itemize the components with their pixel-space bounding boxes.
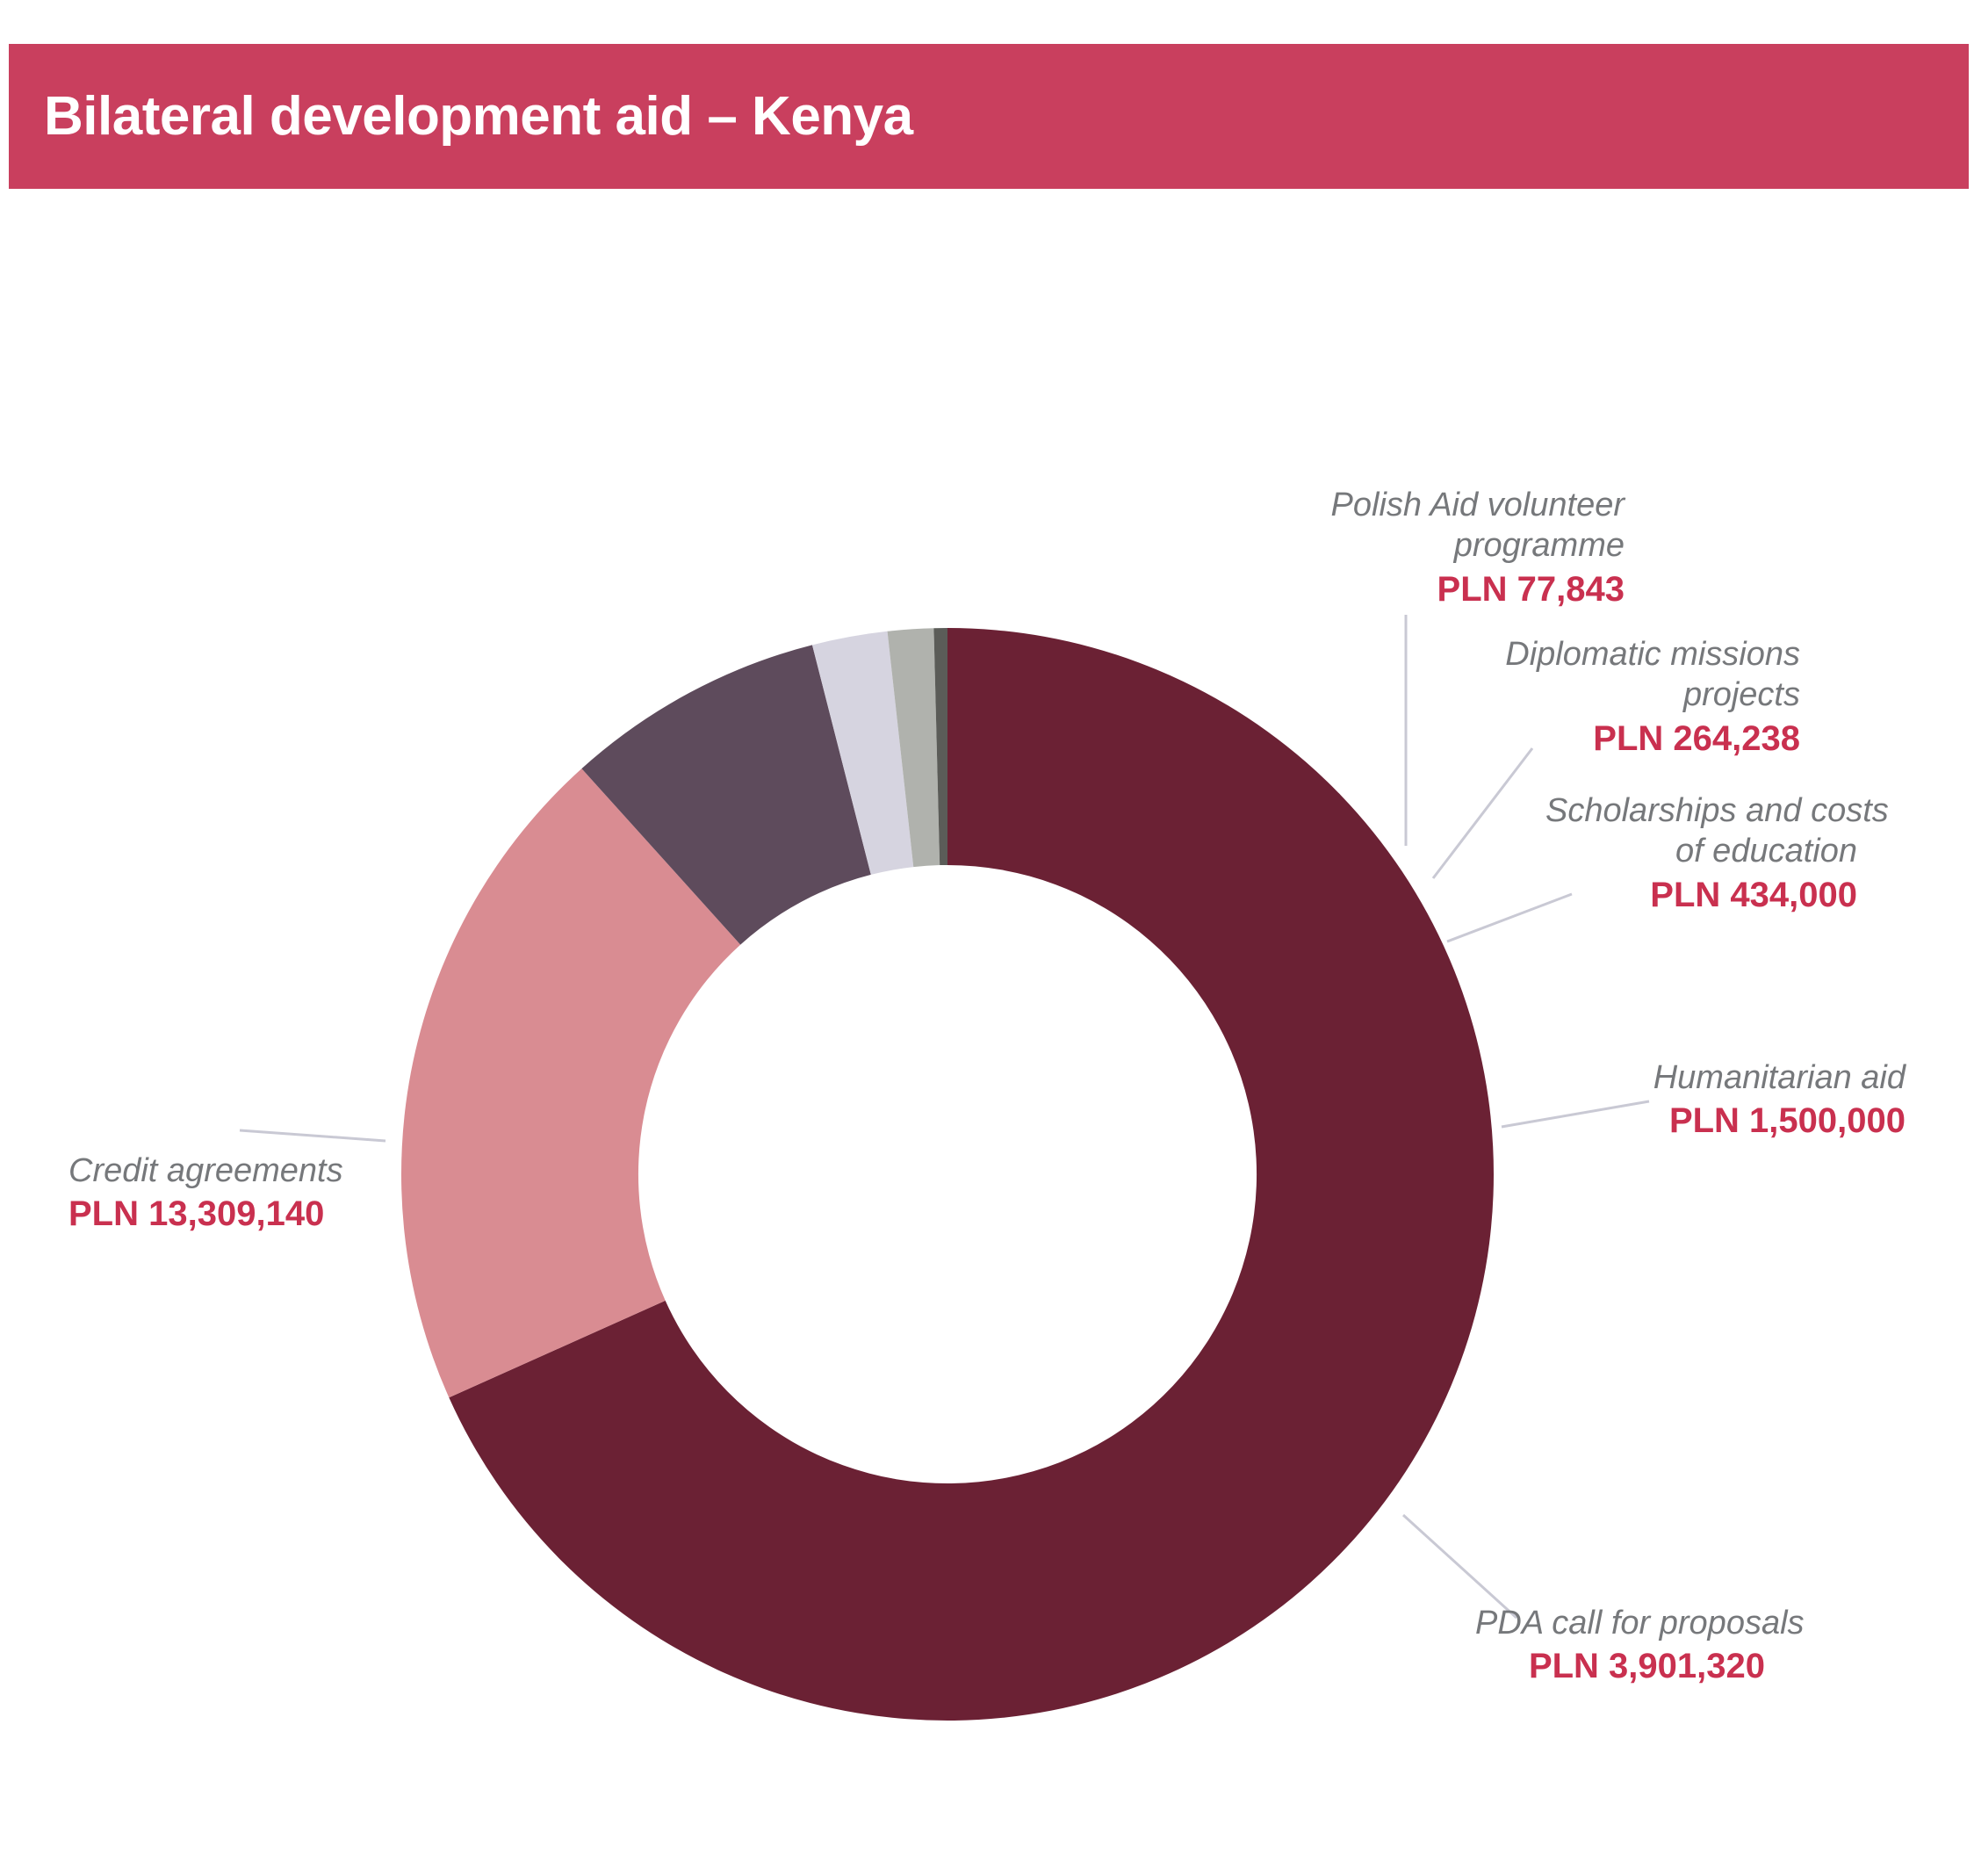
callout-label-credit-agreements: Credit agreements bbox=[68, 1151, 336, 1191]
callout-diplomatic-missions-projects: Diplomatic missions projects PLN 264,238 bbox=[1502, 634, 1800, 761]
callout-value-pda-call-for-proposals: PLN 3,901,320 bbox=[1475, 1645, 1765, 1688]
leader-line-diplomatic-missions-projects bbox=[1433, 748, 1532, 878]
donut-chart-svg bbox=[0, 0, 1974, 1876]
callout-value-credit-agreements: PLN 13,309,140 bbox=[68, 1193, 336, 1236]
callout-label-pda-call-for-proposals: PDA call for proposals bbox=[1475, 1603, 1765, 1643]
callout-label-humanitarian-aid: Humanitarian aid bbox=[1598, 1057, 1906, 1098]
callout-value-polish-aid-volunteer-programme: PLN 77,843 bbox=[1326, 568, 1625, 611]
callout-label-polish-aid-volunteer-programme: Polish Aid volunteer programme bbox=[1326, 485, 1625, 566]
callout-value-scholarships-and-costs-of-education: PLN 434,000 bbox=[1545, 874, 1857, 917]
callout-polish-aid-volunteer-programme: Polish Aid volunteer programme PLN 77,84… bbox=[1326, 485, 1625, 611]
callout-pda-call-for-proposals: PDA call for proposals PLN 3,901,320 bbox=[1475, 1603, 1765, 1688]
callout-value-diplomatic-missions-projects: PLN 264,238 bbox=[1502, 718, 1800, 761]
callout-value-humanitarian-aid: PLN 1,500,000 bbox=[1598, 1100, 1906, 1143]
callout-scholarships-and-costs-of-education: Scholarships and costs of education PLN … bbox=[1545, 790, 1857, 917]
callout-humanitarian-aid: Humanitarian aid PLN 1,500,000 bbox=[1598, 1057, 1906, 1143]
callout-credit-agreements: Credit agreements PLN 13,309,140 bbox=[68, 1151, 336, 1236]
callout-label-diplomatic-missions-projects: Diplomatic missions projects bbox=[1502, 634, 1800, 716]
donut-slice-group bbox=[401, 628, 1494, 1721]
donut-chart: Polish Aid volunteer programme PLN 77,84… bbox=[0, 0, 1974, 1876]
callout-label-scholarships-and-costs-of-education: Scholarships and costs of education bbox=[1545, 790, 1857, 872]
leader-line-credit-agreements bbox=[240, 1130, 385, 1141]
